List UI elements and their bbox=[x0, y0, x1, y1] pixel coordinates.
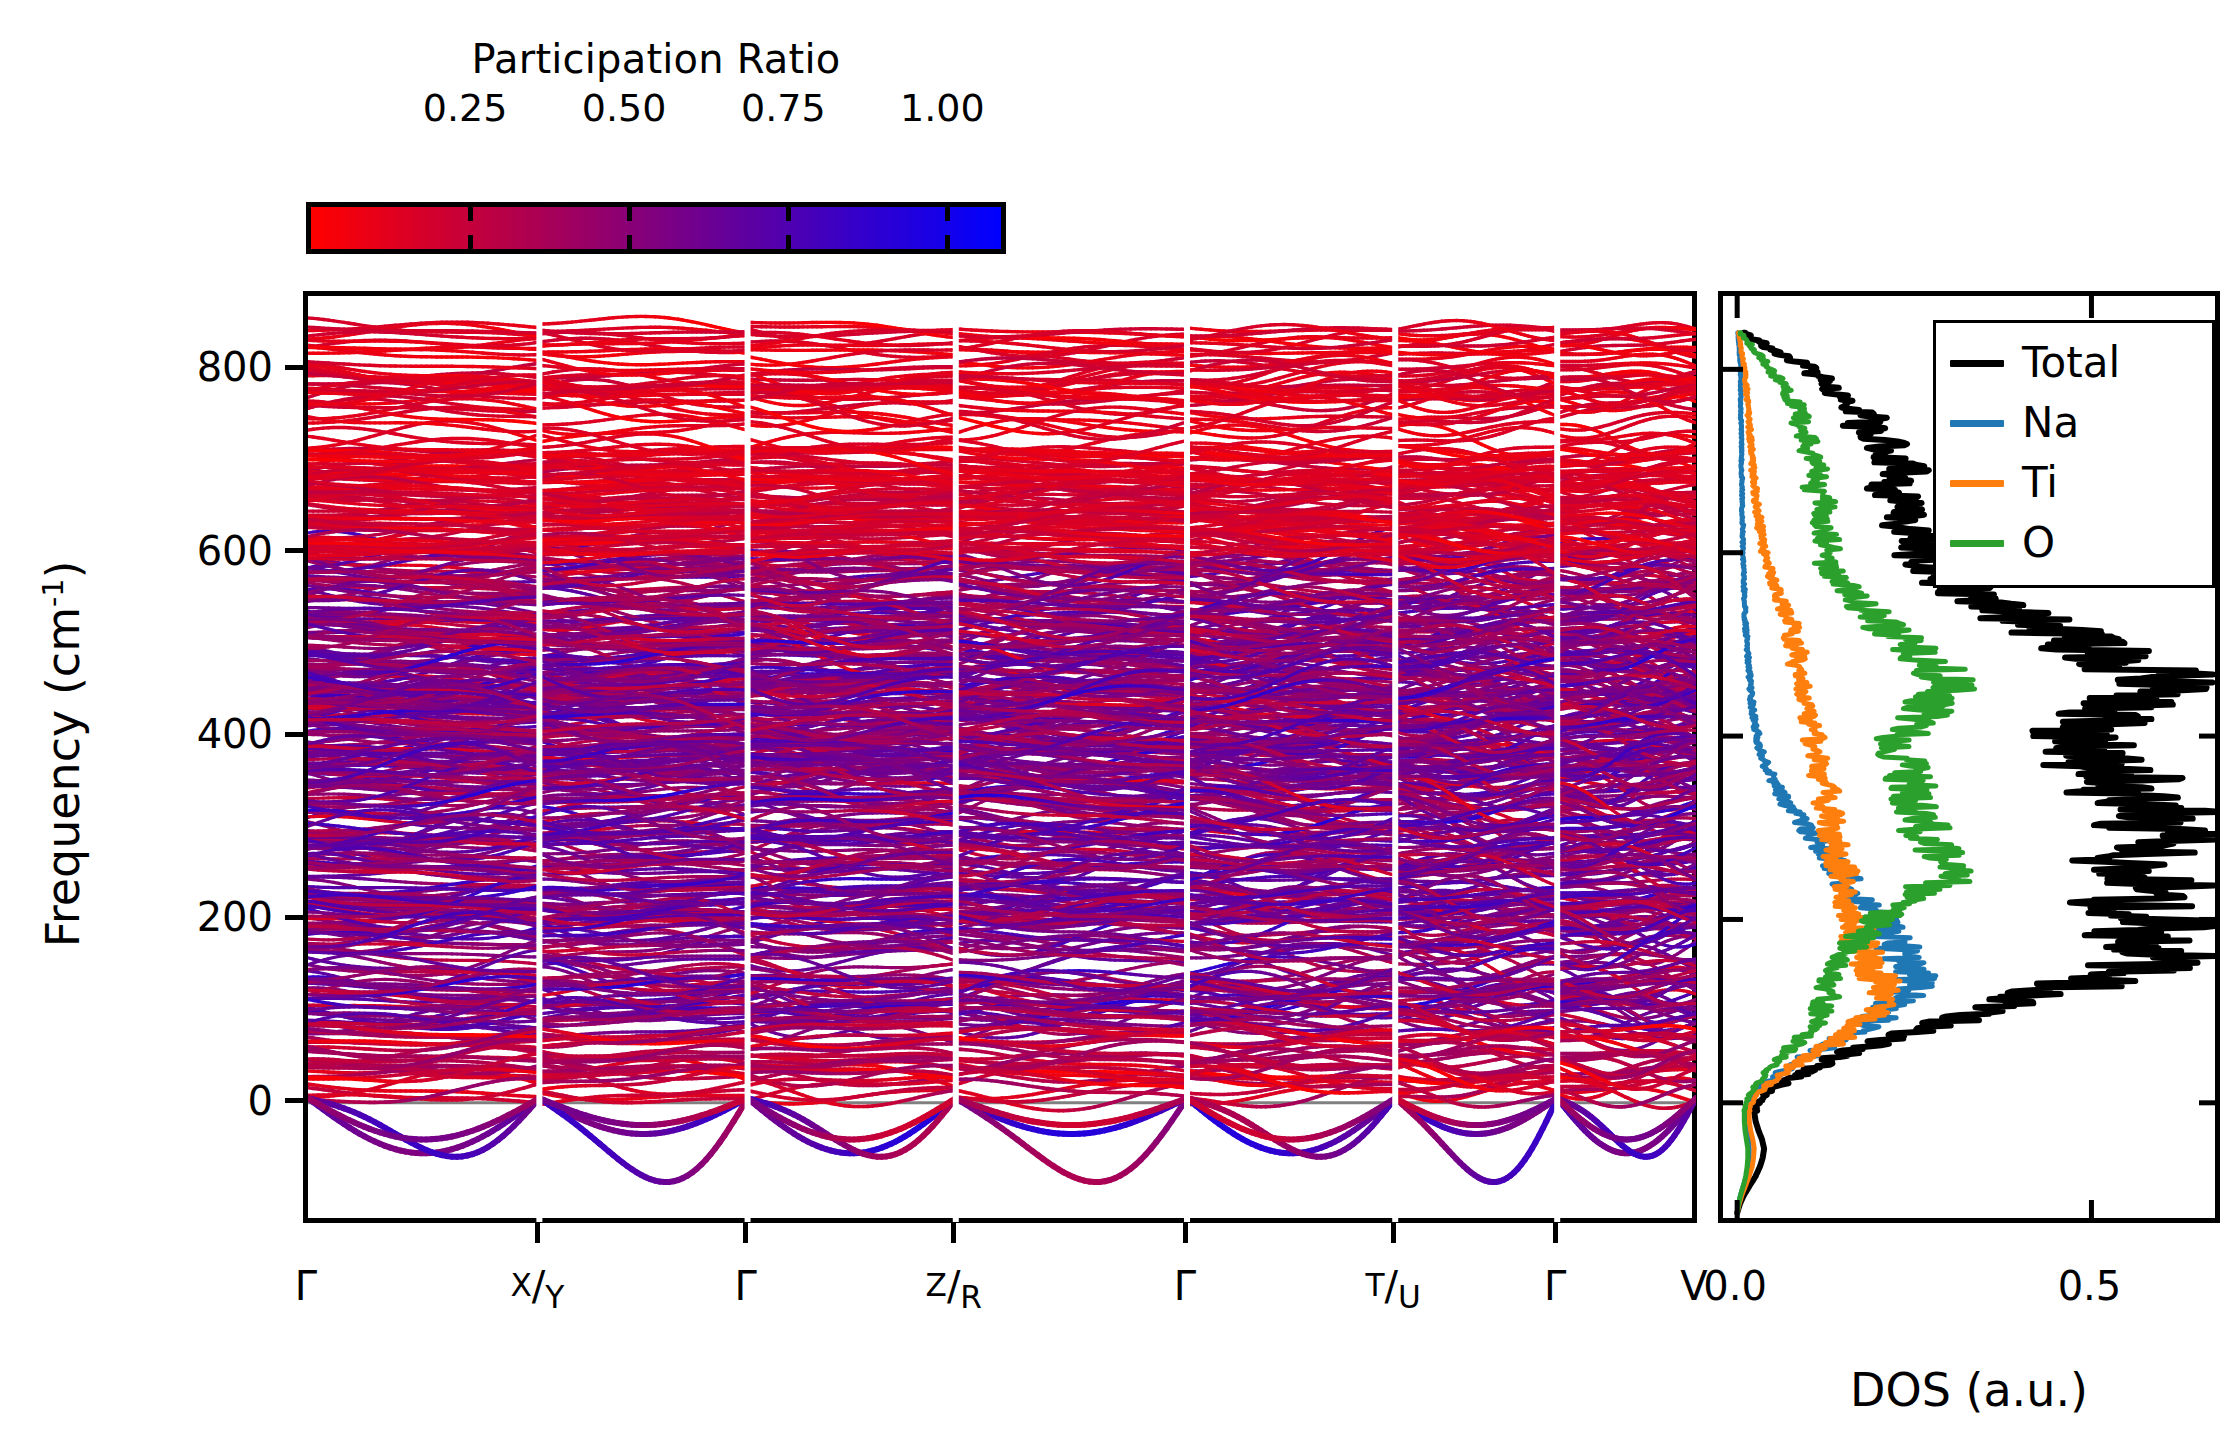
y-axis-label: Frequency (cm-1) bbox=[36, 404, 90, 1104]
legend-item-ti[interactable]: Ti bbox=[1950, 453, 2196, 513]
colorbar-tick-mark bbox=[786, 235, 791, 249]
y-axis-label-text: Frequency (cm bbox=[36, 607, 90, 947]
legend-item-label: Na bbox=[2022, 402, 2079, 444]
colorbar-gradient bbox=[311, 207, 1001, 249]
colorbar bbox=[306, 202, 1006, 254]
y-axis-tick-mark bbox=[285, 732, 305, 737]
legend-item-total[interactable]: Total bbox=[1950, 333, 2196, 393]
x-axis-tick-mark bbox=[1183, 1223, 1188, 1243]
phonon-band-curves bbox=[308, 316, 1696, 1182]
x-axis-tick-label: Γ bbox=[295, 1263, 317, 1309]
dos-x-axis-tick-label: 0.0 bbox=[1703, 1263, 1767, 1309]
legend-item-label: Total bbox=[2022, 342, 2120, 384]
legend-item-label: O bbox=[2022, 522, 2055, 564]
legend-item-label: Ti bbox=[2022, 462, 2058, 504]
colorbar-title: Participation Ratio bbox=[306, 36, 1006, 82]
y-axis-label-tail: ) bbox=[36, 561, 90, 579]
band-structure-axes bbox=[303, 291, 1697, 1223]
colorbar-tick-mark bbox=[627, 235, 632, 249]
x-axis-tick-mark bbox=[1553, 1223, 1558, 1243]
figure-canvas: Participation Ratio 0.250.500.751.00 Fre… bbox=[0, 0, 2222, 1455]
y-axis-label-exponent: -1 bbox=[37, 579, 70, 607]
dos-x-axis-tick-label: 0.5 bbox=[2058, 1263, 2122, 1309]
x-axis-tick-label: Γ bbox=[734, 1263, 756, 1309]
legend-item-na[interactable]: Na bbox=[1950, 393, 2196, 453]
y-axis-tick-label: 200 bbox=[113, 894, 273, 940]
colorbar-tick-label: 0.75 bbox=[741, 86, 826, 130]
colorbar-tick-label: 0.50 bbox=[582, 86, 667, 130]
colorbar-tick-mark bbox=[468, 235, 473, 249]
y-axis-tick-label: 400 bbox=[113, 711, 273, 757]
x-axis-tick-label: Z/R bbox=[926, 1263, 983, 1309]
x-axis-tick-label: X/Y bbox=[510, 1263, 564, 1309]
x-axis-tick-mark bbox=[535, 1223, 540, 1243]
colorbar-tick-label: 1.00 bbox=[900, 86, 985, 130]
dos-legend: TotalNaTiO bbox=[1933, 320, 2215, 588]
y-axis-tick-mark bbox=[285, 365, 305, 370]
band-structure-plot bbox=[308, 296, 1696, 1222]
y-axis-tick-mark bbox=[285, 1098, 305, 1103]
x-axis-tick-label: T/U bbox=[1366, 1263, 1421, 1309]
colorbar-tick-mark bbox=[945, 207, 950, 221]
colorbar-tick-labels: 0.250.500.751.00 bbox=[306, 86, 1006, 130]
x-axis-tick-mark bbox=[743, 1223, 748, 1243]
colorbar-tick-mark bbox=[468, 207, 473, 221]
y-axis-tick-label: 0 bbox=[113, 1078, 273, 1124]
legend-line-swatch bbox=[1950, 360, 2004, 367]
legend-line-swatch bbox=[1950, 420, 2004, 427]
x-axis-tick-label: Γ bbox=[1174, 1263, 1196, 1309]
colorbar-tick-label: 0.25 bbox=[423, 86, 508, 130]
colorbar-tick-mark bbox=[627, 207, 632, 221]
legend-line-swatch bbox=[1950, 480, 2004, 487]
dos-x-axis-label: DOS (a.u.) bbox=[1718, 1363, 2220, 1417]
colorbar-tick-mark bbox=[786, 207, 791, 221]
y-axis-tick-label: 600 bbox=[113, 528, 273, 574]
x-axis-tick-mark bbox=[1391, 1223, 1396, 1243]
x-axis-tick-mark bbox=[951, 1223, 956, 1243]
legend-item-o[interactable]: O bbox=[1950, 513, 2196, 573]
x-axis-tick-label: Γ bbox=[1544, 1263, 1566, 1309]
y-axis-tick-mark bbox=[285, 915, 305, 920]
legend-line-swatch bbox=[1950, 540, 2004, 547]
colorbar-tick-mark bbox=[945, 235, 950, 249]
y-axis-tick-label: 800 bbox=[113, 344, 273, 390]
y-axis-tick-mark bbox=[285, 548, 305, 553]
